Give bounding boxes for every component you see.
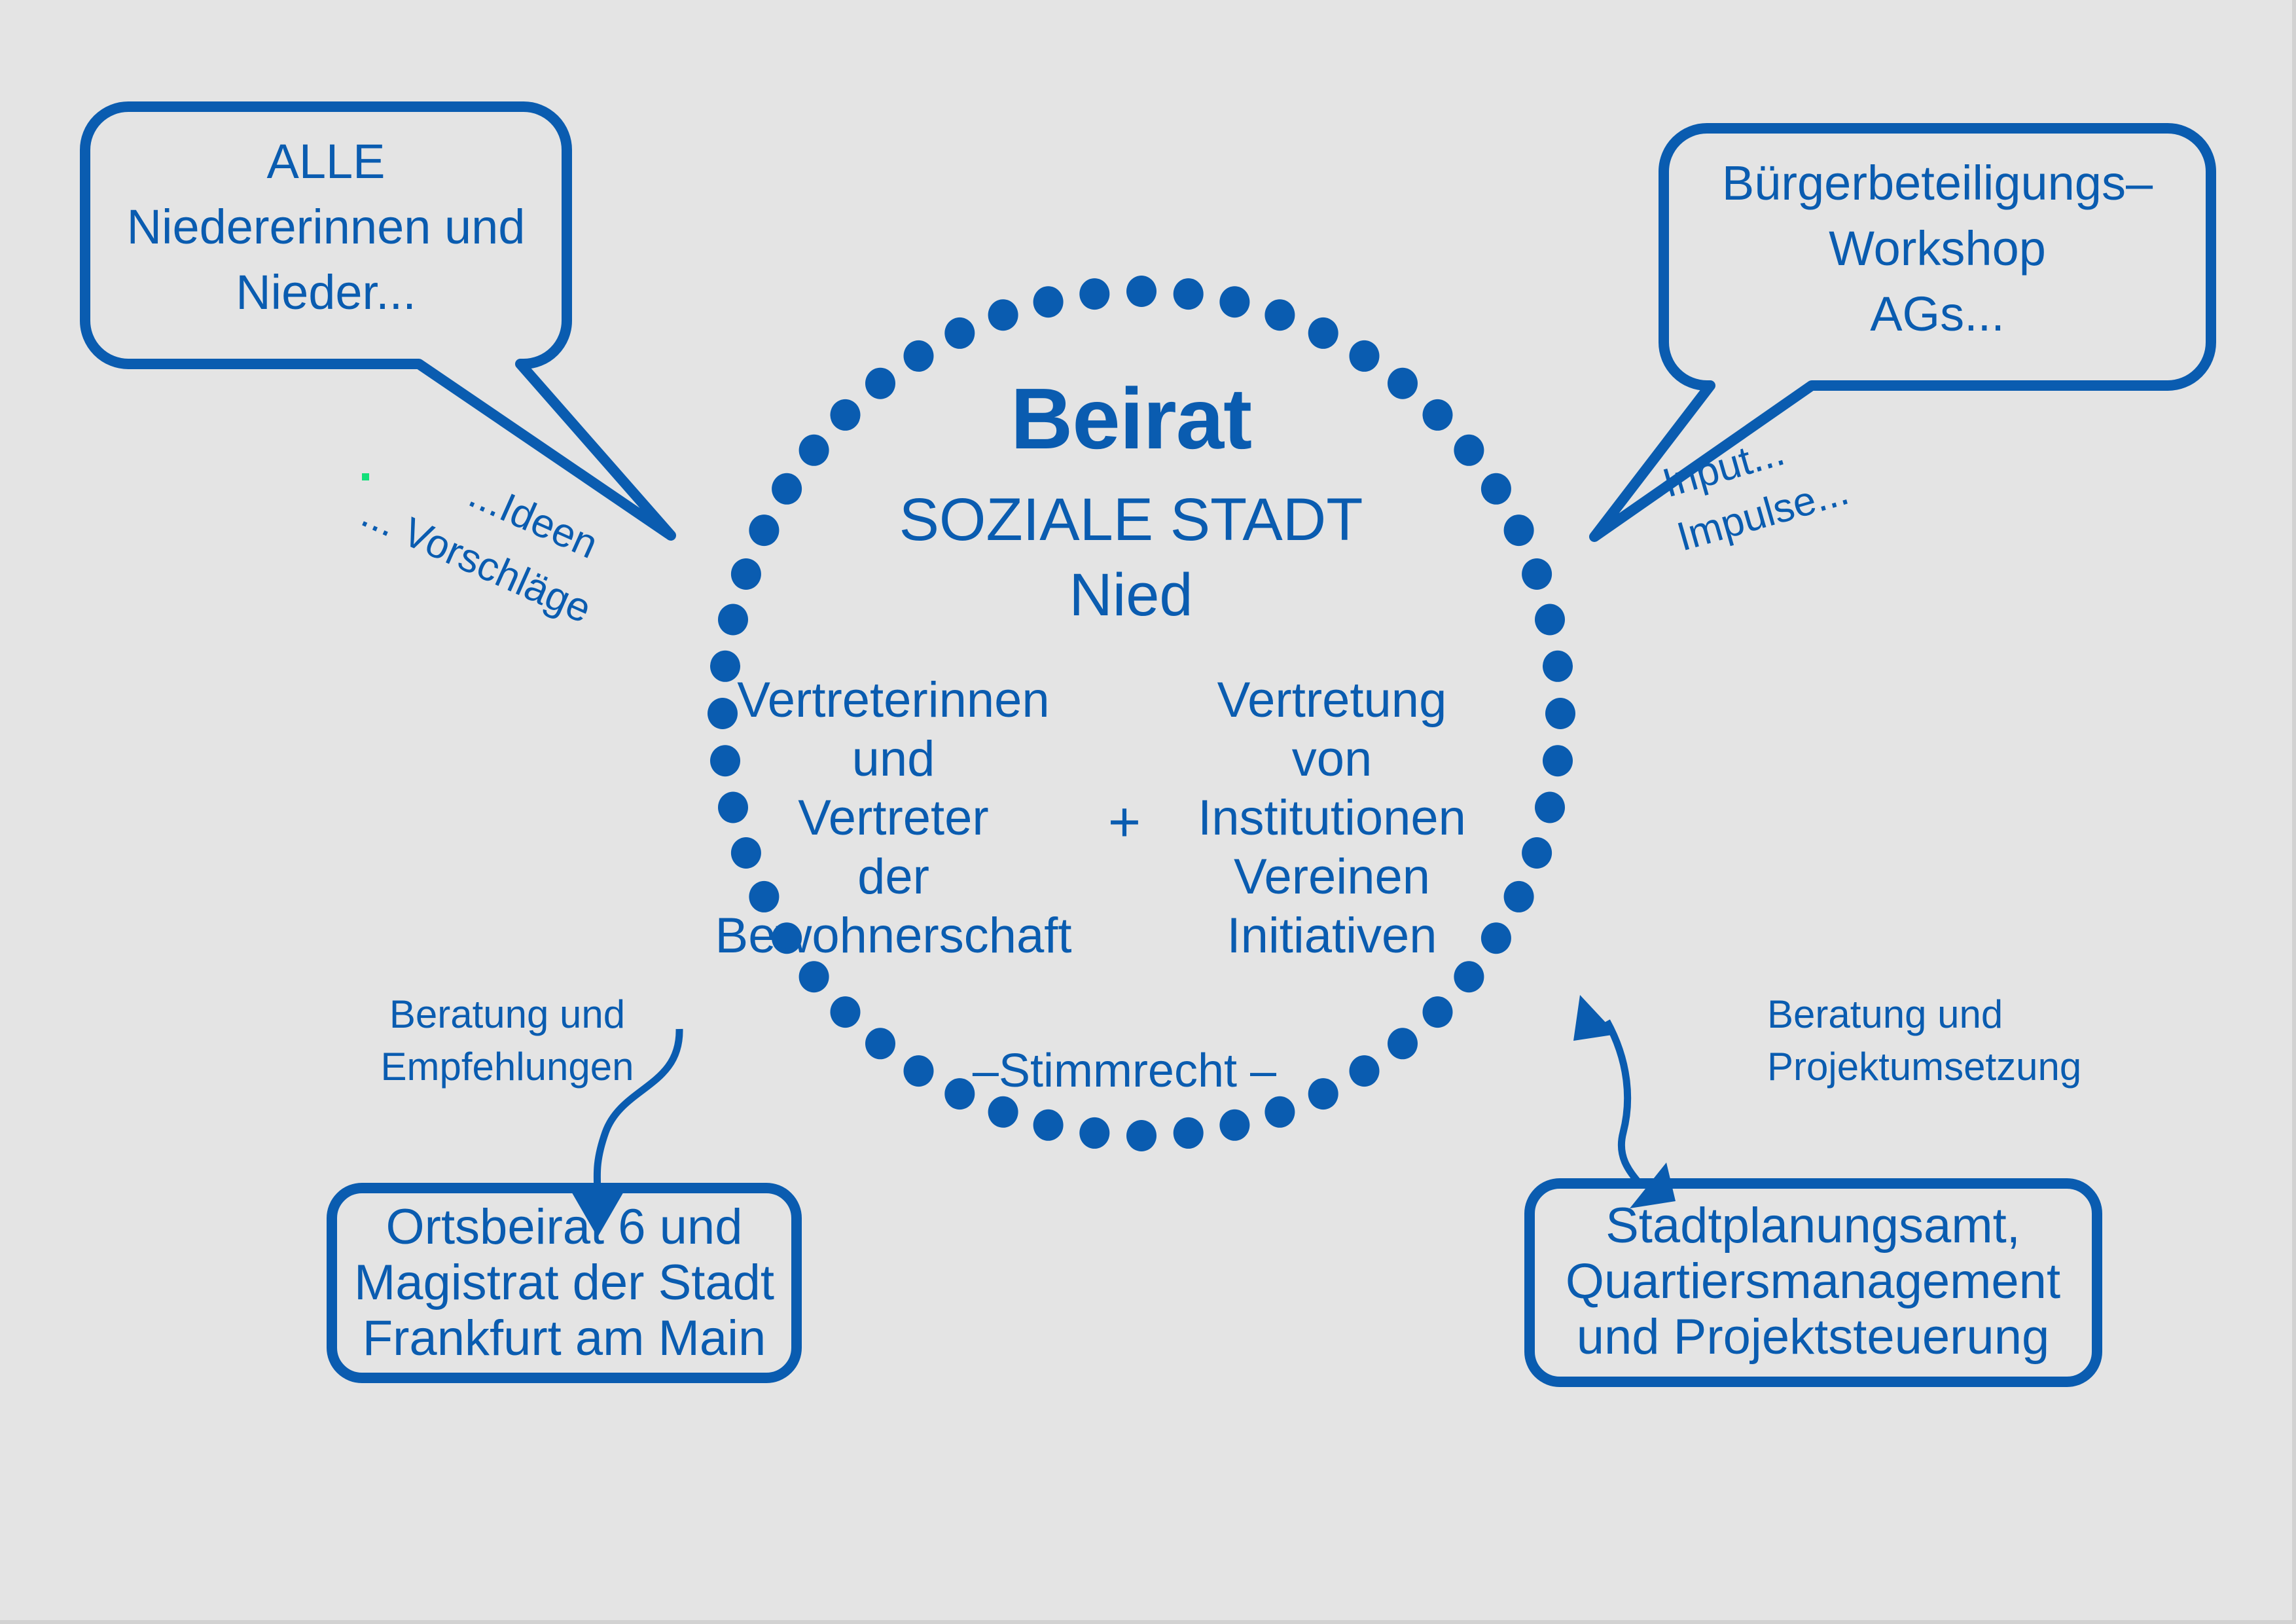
ring-dot (865, 1028, 895, 1059)
right-column-line-4: Vereinen (1234, 849, 1430, 905)
bubble-right-line-3: AGs... (1870, 287, 2005, 341)
ring-dot (1504, 881, 1534, 912)
box-left-line-2: Magistrat der Stadt (354, 1255, 774, 1310)
ring-dot (944, 1078, 975, 1110)
center-title: Beirat (1011, 370, 1251, 467)
ring-dot (772, 473, 802, 505)
ring-dot (865, 368, 895, 399)
ring-dot (988, 299, 1018, 331)
ring-dot (1265, 299, 1295, 331)
label-ideen-vorschlaege: ...Ideen ... Vorschläge (355, 471, 604, 632)
speech-bubble-top-left[interactable]: ALLE Niedererinnen und Nieder... (85, 107, 671, 535)
ring-dot (1350, 1055, 1380, 1087)
ring-dot (1388, 368, 1418, 399)
ring-dot (1522, 558, 1552, 590)
ring-dot (1174, 278, 1204, 310)
label-beratung-und-right: Beratung und (1767, 992, 2003, 1036)
bubble-right-line-2: Workshop (1829, 221, 2046, 276)
right-column-line-1: Vertretung (1217, 672, 1447, 728)
left-column-line-4: der (857, 849, 929, 905)
ring-dot (1388, 1028, 1418, 1059)
ring-dot (1126, 1120, 1157, 1151)
label-beratung-projektumsetzung: Beratung und Projektumsetzung (1767, 992, 2081, 1089)
arrow-double-stadtplanungsamt (1573, 995, 1676, 1208)
ring-dot (1522, 837, 1552, 869)
ring-dot (1423, 996, 1453, 1028)
ring-dot (1219, 286, 1249, 317)
center-subtitle-line-2: Nied (1069, 562, 1193, 628)
ring-dot (749, 514, 779, 546)
stimmrecht-note: –Stimmrecht – (973, 1045, 1277, 1097)
ring-dot (1265, 1096, 1295, 1128)
circle-center-content: Beirat SOZIALE STADT Nied Vertreterinnen… (715, 370, 1466, 1097)
ring-dot (1079, 1117, 1109, 1149)
ring-dot (1033, 1110, 1064, 1141)
ring-dot (1454, 435, 1484, 466)
ring-dot (1308, 1078, 1338, 1110)
ring-dot (1033, 286, 1064, 317)
ring-dot (710, 651, 740, 682)
ring-dot (1079, 278, 1109, 310)
left-column-line-1: Vertreterinnen (737, 672, 1049, 728)
ring-dot (1543, 745, 1573, 776)
ring-dot (708, 698, 738, 729)
diagram-canvas: ALLE Niedererinnen und Nieder... Bürgerb… (0, 0, 2296, 1624)
left-column-line-2: und (852, 731, 935, 787)
label-beratung-und-left: Beratung und (389, 992, 625, 1036)
ring-dot (1454, 961, 1484, 992)
label-projektumsetzung: Projektumsetzung (1767, 1045, 2081, 1089)
right-column-line-3: Institutionen (1198, 790, 1466, 846)
ring-dot (1481, 922, 1511, 954)
box-stadtplanungsamt[interactable]: Stadtplanungsamt, Quartiersmanagement un… (1530, 1183, 2097, 1382)
center-subtitle-line-1: SOZIALE STADT (899, 486, 1363, 553)
bubble-left-line-2: Niedererinnen und (127, 200, 526, 254)
green-speck-artifact (362, 473, 369, 480)
ring-dot (1535, 604, 1565, 636)
label-input-impulse: Input... Impulse... (1658, 429, 1854, 560)
arrowhead-up-right (1573, 995, 1617, 1041)
box-right-line-1: Stadtplanungsamt, (1605, 1198, 2020, 1254)
ring-dot (1504, 514, 1534, 546)
ring-dot (1423, 399, 1453, 431)
left-column-line-3: Vertreter (798, 790, 988, 846)
ring-dot (1126, 276, 1157, 307)
ring-dot (988, 1096, 1018, 1128)
box-left-line-1: Ortsbeirat 6 und (386, 1199, 743, 1255)
ring-dot (718, 604, 748, 636)
ring-dot (799, 961, 829, 992)
ring-dot (1535, 792, 1565, 823)
label-empfehlungen: Empfehlungen (381, 1045, 634, 1089)
right-column-line-2: von (1292, 731, 1372, 787)
bubble-right-line-1: Bürgerbeteiligungs– (1722, 156, 2153, 210)
ring-dot (1174, 1117, 1204, 1149)
ring-dot (731, 558, 761, 590)
ring-dot (904, 340, 934, 372)
bubble-left-line-3: Nieder... (236, 265, 416, 319)
ring-dot (710, 745, 740, 776)
ring-dot (1350, 340, 1380, 372)
box-right-line-2: Quartiersmanagement (1566, 1254, 2060, 1309)
ring-dot (1481, 473, 1511, 505)
ring-dot (1545, 698, 1575, 729)
ring-dot (799, 435, 829, 466)
ring-dot (1219, 1110, 1249, 1141)
label-beratung-empfehlungen: Beratung und Empfehlungen (381, 992, 634, 1089)
ring-dot (718, 792, 748, 823)
ring-dot (944, 317, 975, 349)
ring-dot (731, 837, 761, 869)
box-ortsbeirat-magistrat[interactable]: Ortsbeirat 6 und Magistrat der Stadt Fra… (332, 1188, 797, 1378)
ring-dot (1543, 651, 1573, 682)
left-column-line-5: Bewohnerschaft (715, 908, 1072, 964)
box-left-line-3: Frankfurt am Main (363, 1310, 766, 1366)
bubble-left-line-1: ALLE (266, 134, 385, 189)
plus-operator: + (1108, 791, 1141, 854)
ring-dot (904, 1055, 934, 1087)
ring-dot (1308, 317, 1338, 349)
box-right-line-3: und Projektsteuerung (1577, 1309, 2049, 1365)
right-column-line-5: Initiativen (1227, 908, 1437, 964)
ring-dot (831, 996, 861, 1028)
ring-dot (831, 399, 861, 431)
beirat-soziale-stadt-diagram: ALLE Niedererinnen und Nieder... Bürgerb… (0, 0, 2296, 1624)
